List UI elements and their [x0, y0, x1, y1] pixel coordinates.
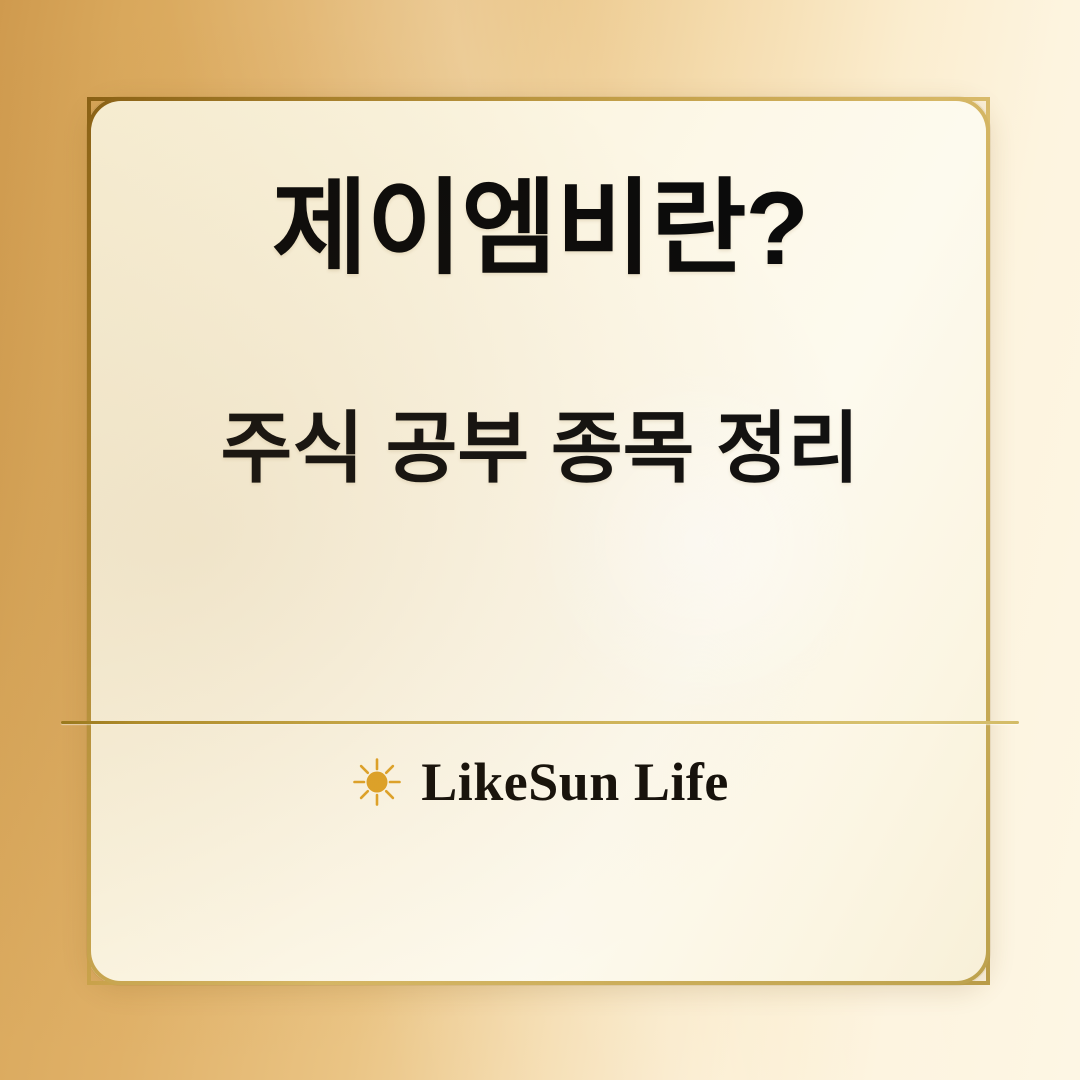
poster-canvas: 제이엠비란? 주식 공부 종목 정리 LikeSun Life — [0, 0, 1080, 1080]
brand-lockup: LikeSun Life — [0, 755, 1080, 809]
brand-name: LikeSun Life — [421, 755, 729, 809]
section-divider — [61, 721, 1019, 724]
page-title: 제이엠비란? — [0, 172, 1080, 286]
page-subtitle: 주식 공부 종목 정리 — [0, 404, 1080, 494]
sun-icon — [351, 756, 403, 808]
card-content: 제이엠비란? 주식 공부 종목 정리 LikeSun Life — [0, 0, 1080, 1080]
